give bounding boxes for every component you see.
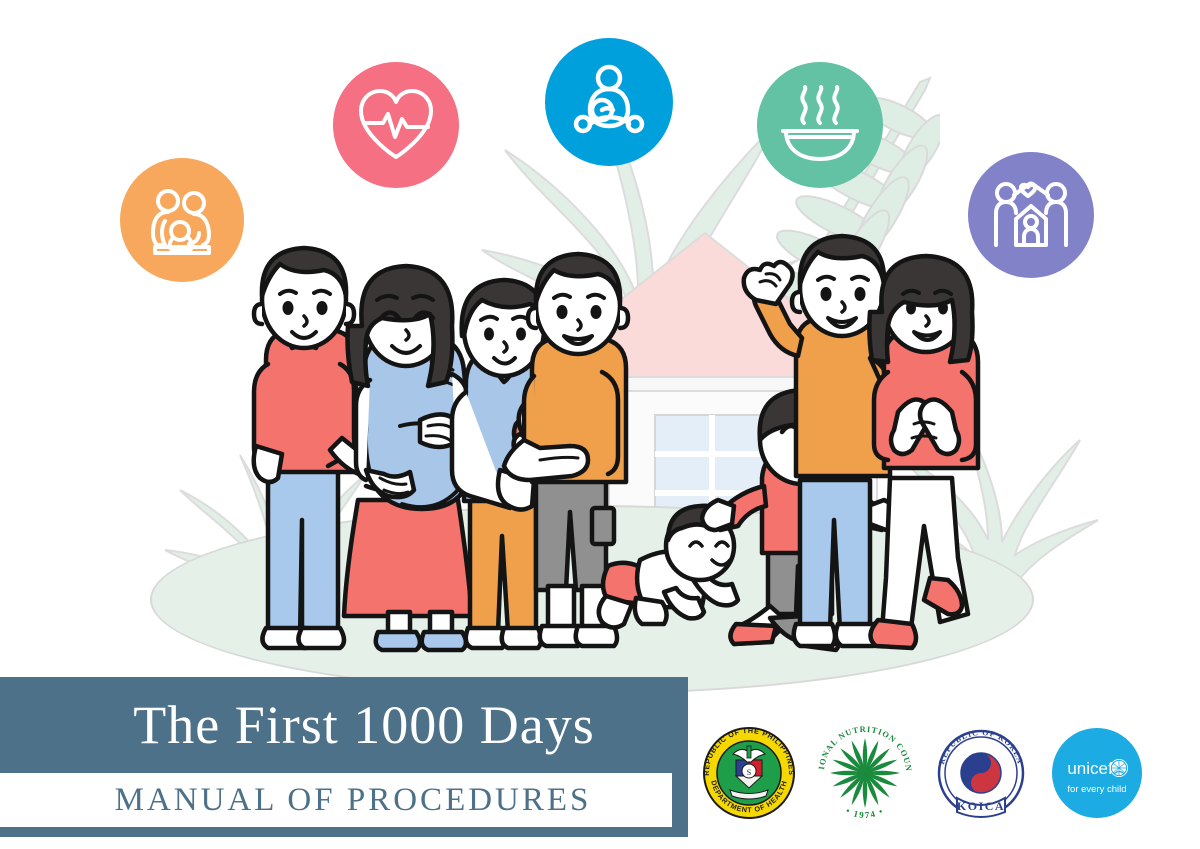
logo-row: S REPUBLIC OF THE PHILIPPINES DEPARTMENT… xyxy=(700,718,1170,828)
svg-text:KOICA: KOICA xyxy=(957,799,1005,813)
figure-mother-clasping-hands xyxy=(869,256,978,648)
cover-page: The First 1000 Days MANUAL OF PROCEDURES… xyxy=(0,0,1200,849)
koica-logo: KOICA REPUBLIC OF KOREA xyxy=(932,724,1030,822)
heart-heartbeat-icon xyxy=(333,62,459,188)
parents-sheltering-child-icon xyxy=(968,152,1094,278)
unicef-logo: unicef for every child xyxy=(1048,724,1146,822)
svg-text:S: S xyxy=(747,768,751,777)
family-with-baby-icon xyxy=(120,158,244,282)
subtitle-bar: MANUAL OF PROCEDURES xyxy=(0,773,672,827)
unicef-tagline: for every child xyxy=(1067,784,1126,795)
unicef-wordmark: unicef xyxy=(1067,759,1113,778)
breastfeeding-icon xyxy=(545,38,673,166)
title-block: The First 1000 Days MANUAL OF PROCEDURES xyxy=(0,677,688,837)
nnc-logo: NATIONAL NUTRITION COUNCIL • 1974 • xyxy=(816,724,914,822)
doh-logo: S REPUBLIC OF THE PHILIPPINES DEPARTMENT… xyxy=(700,724,798,822)
hot-bowl-food-icon xyxy=(757,62,883,188)
page-subtitle: MANUAL OF PROCEDURES xyxy=(81,782,592,819)
page-title: The First 1000 Days xyxy=(0,677,688,773)
unicef-emblem-icon xyxy=(1110,759,1128,777)
